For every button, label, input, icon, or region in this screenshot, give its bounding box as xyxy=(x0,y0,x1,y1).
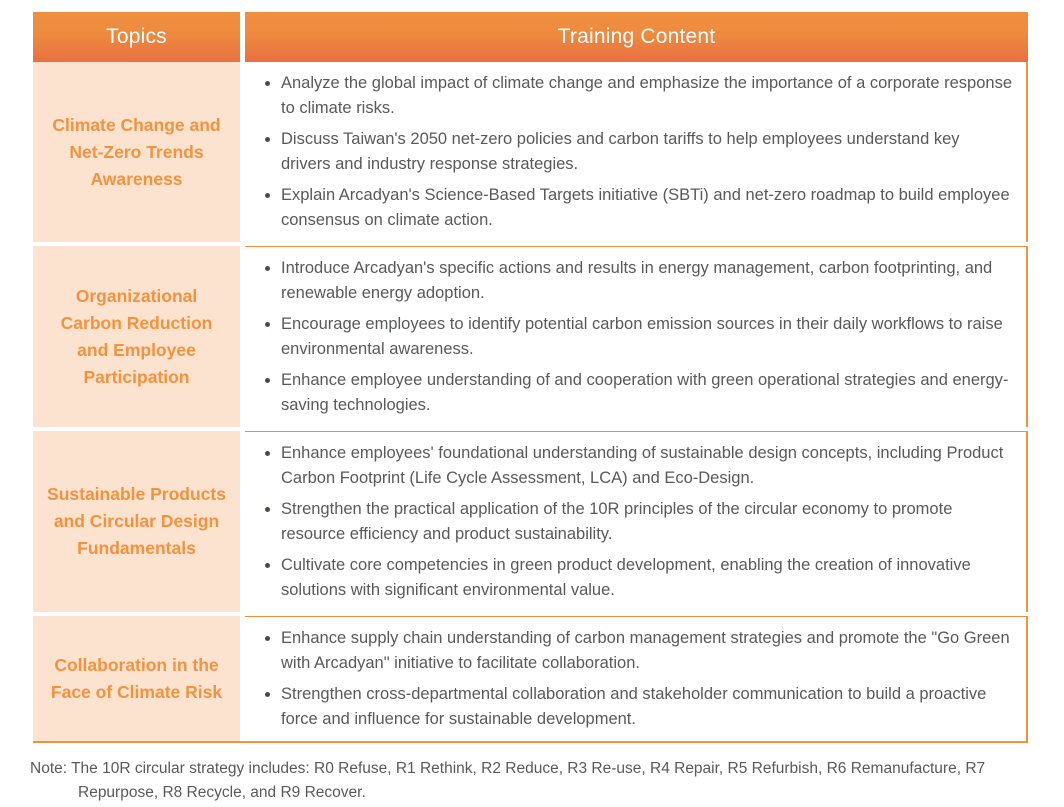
list-item: Enhance supply chain understanding of ca… xyxy=(259,626,1012,676)
topic-cell: Sustainable Products and Circular Design… xyxy=(33,431,240,612)
list-item: Explain Arcadyan's Science-Based Targets… xyxy=(259,183,1012,233)
list-item: Cultivate core competencies in green pro… xyxy=(259,553,1012,603)
topic-cell: Climate Change and Net-Zero Trends Aware… xyxy=(33,62,240,242)
column-header-training-content-label: Training Content xyxy=(558,25,716,49)
table-footnote-text: Note: The 10R circular strategy includes… xyxy=(30,757,1040,805)
table-footnote: Note: The 10R circular strategy includes… xyxy=(30,757,1040,805)
table-body: Climate Change and Net-Zero Trends Aware… xyxy=(33,62,1028,743)
column-header-topics: Topics xyxy=(33,12,240,62)
list-item: Enhance employee understanding of and co… xyxy=(259,368,1012,418)
content-cell: Enhance supply chain understanding of ca… xyxy=(245,616,1028,741)
topic-cell: Collaboration in the Face of Climate Ris… xyxy=(33,616,240,741)
topic-cell: Organizational Carbon Reduction and Empl… xyxy=(33,246,240,427)
table-row: Climate Change and Net-Zero Trends Aware… xyxy=(33,62,1028,242)
list-item: Encourage employees to identify potentia… xyxy=(259,312,1012,362)
column-header-topics-label: Topics xyxy=(106,25,167,49)
list-item: Strengthen the practical application of … xyxy=(259,497,1012,547)
bullet-list: Introduce Arcadyan's specific actions an… xyxy=(259,256,1012,418)
table-header-row: Topics Training Content xyxy=(33,12,1028,62)
bullet-list: Enhance supply chain understanding of ca… xyxy=(259,626,1012,732)
table-row: Organizational Carbon Reduction and Empl… xyxy=(33,246,1028,427)
list-item: Enhance employees' foundational understa… xyxy=(259,441,1012,491)
table-row: Collaboration in the Face of Climate Ris… xyxy=(33,616,1028,741)
table-row: Sustainable Products and Circular Design… xyxy=(33,431,1028,612)
list-item: Introduce Arcadyan's specific actions an… xyxy=(259,256,1012,306)
training-content-table: Topics Training Content Climate Change a… xyxy=(33,12,1028,743)
content-cell: Enhance employees' foundational understa… xyxy=(245,431,1028,612)
content-cell: Introduce Arcadyan's specific actions an… xyxy=(245,246,1028,427)
content-cell: Analyze the global impact of climate cha… xyxy=(245,62,1028,242)
bullet-list: Enhance employees' foundational understa… xyxy=(259,441,1012,603)
list-item: Strengthen cross-departmental collaborat… xyxy=(259,682,1012,732)
bullet-list: Analyze the global impact of climate cha… xyxy=(259,71,1012,233)
list-item: Discuss Taiwan's 2050 net-zero policies … xyxy=(259,127,1012,177)
column-header-training-content: Training Content xyxy=(245,12,1028,62)
page-root: Topics Training Content Climate Change a… xyxy=(0,0,1064,807)
list-item: Analyze the global impact of climate cha… xyxy=(259,71,1012,121)
